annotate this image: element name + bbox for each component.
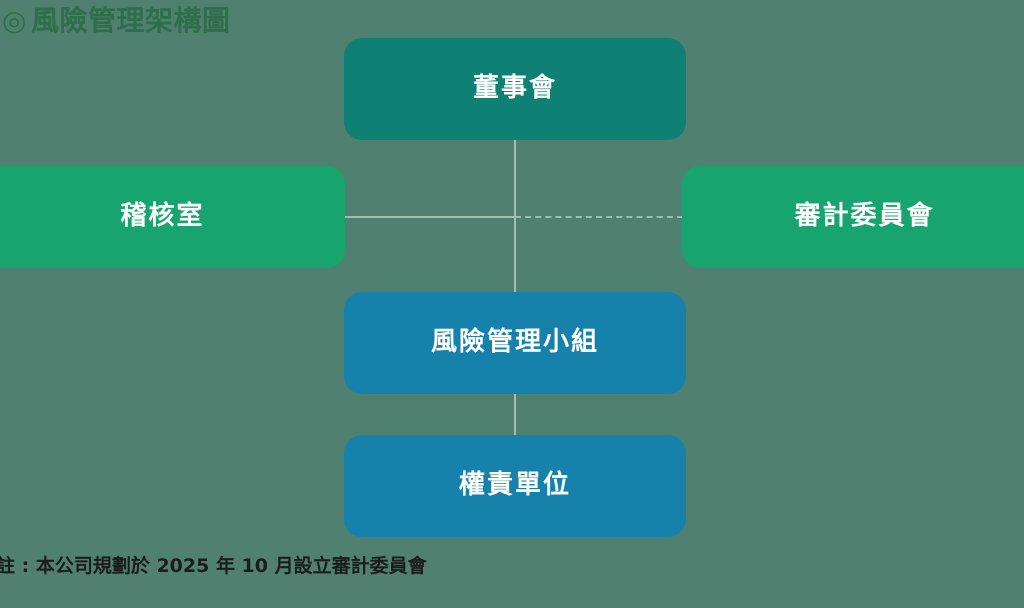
risk-management-structure-diagram: ◎風險管理架構圖 董事會 稽核室 審計委員會 風險管理小組 權責單位 註 : 本… [0,0,1024,608]
connector-risk-team-to-responsible-units [514,393,516,435]
page-title: ◎風險管理架構圖 [2,3,230,39]
connector-to-audit-office [345,216,515,218]
node-responsible-units-label: 權責單位 [459,470,571,501]
node-board-of-directors-label: 董事會 [473,73,557,104]
node-audit-committee-label: 審計委員會 [794,201,934,232]
node-risk-management-team: 風險管理小組 [344,292,686,394]
node-audit-committee: 審計委員會 [682,166,1024,268]
connector-to-audit-committee-planned [515,216,683,218]
node-responsible-units: 權責單位 [344,435,686,537]
bullet-circle-icon: ◎ [2,3,27,39]
node-risk-management-team-label: 風險管理小組 [431,327,599,358]
footnote: 註 : 本公司規劃於 2025 年 10 月設立審計委員會 [0,552,427,580]
node-board-of-directors: 董事會 [344,38,686,140]
node-audit-office-label: 稽核室 [120,201,204,232]
page-title-text: 風險管理架構圖 [31,4,231,37]
node-audit-office: 稽核室 [0,166,345,268]
